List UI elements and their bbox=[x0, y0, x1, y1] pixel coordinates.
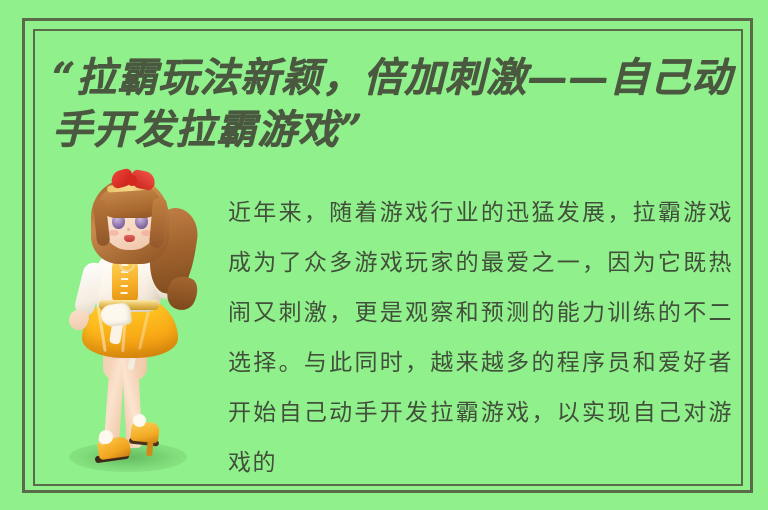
article-card: “拉霸玩法新颖，倍加刺激——自己动手开发拉霸游戏” bbox=[0, 0, 768, 510]
mouth bbox=[124, 235, 135, 242]
left-blush bbox=[108, 230, 119, 236]
waist-bow bbox=[100, 302, 133, 328]
nose bbox=[127, 228, 130, 231]
page-title: “拉霸玩法新颖，倍加刺激——自己动手开发拉霸游戏” bbox=[52, 52, 732, 156]
red-bow-knot bbox=[127, 175, 137, 186]
right-anklet bbox=[133, 414, 146, 427]
article-body-text: 近年来，随着游戏行业的迅猛发展，拉霸游戏成为了众多游戏玩家的最爱之一，因为它既热… bbox=[228, 188, 733, 488]
character-illustration bbox=[55, 170, 205, 482]
